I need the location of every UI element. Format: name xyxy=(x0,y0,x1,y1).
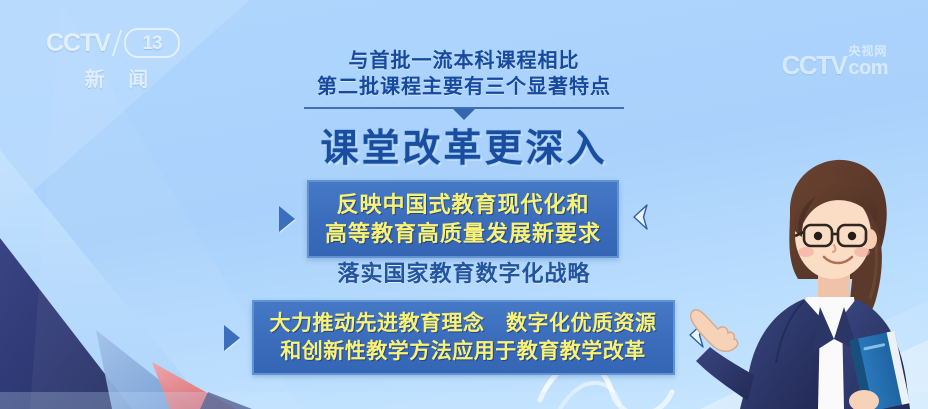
point-banner-1: 反映中国式教育现代化和 高等教育高质量发展新要求 xyxy=(307,180,619,258)
point-3-line-1: 大力推动先进教育理念 数字化优质资源 xyxy=(270,310,657,338)
kicker-line-1: 与首批一流本科课程相比 xyxy=(0,48,928,74)
point-3-line-2: 和创新性教学方法应用于教育教学改革 xyxy=(270,338,657,366)
point-1-line-1: 反映中国式教育现代化和 xyxy=(325,190,601,219)
teacher-character xyxy=(678,139,928,409)
point-banner-3: 大力推动先进教育理念 数字化优质资源 和创新性教学方法应用于教育教学改革 xyxy=(252,300,675,375)
broadcast-graphic: CCTV 13 新 闻 CCTV 央视网 com 与首批一流本科课程相比 第二批… xyxy=(0,0,928,409)
point-1-line-2: 高等教育高质量发展新要求 xyxy=(325,219,601,248)
kicker-line-2: 第二批课程主要有三个显著特点 xyxy=(0,74,928,100)
caret-down-icon xyxy=(453,109,475,120)
divider-rule xyxy=(304,107,624,109)
triangle-right-icon xyxy=(279,206,295,232)
triangle-right-icon xyxy=(224,325,240,351)
chevron-left-icon xyxy=(631,203,649,236)
